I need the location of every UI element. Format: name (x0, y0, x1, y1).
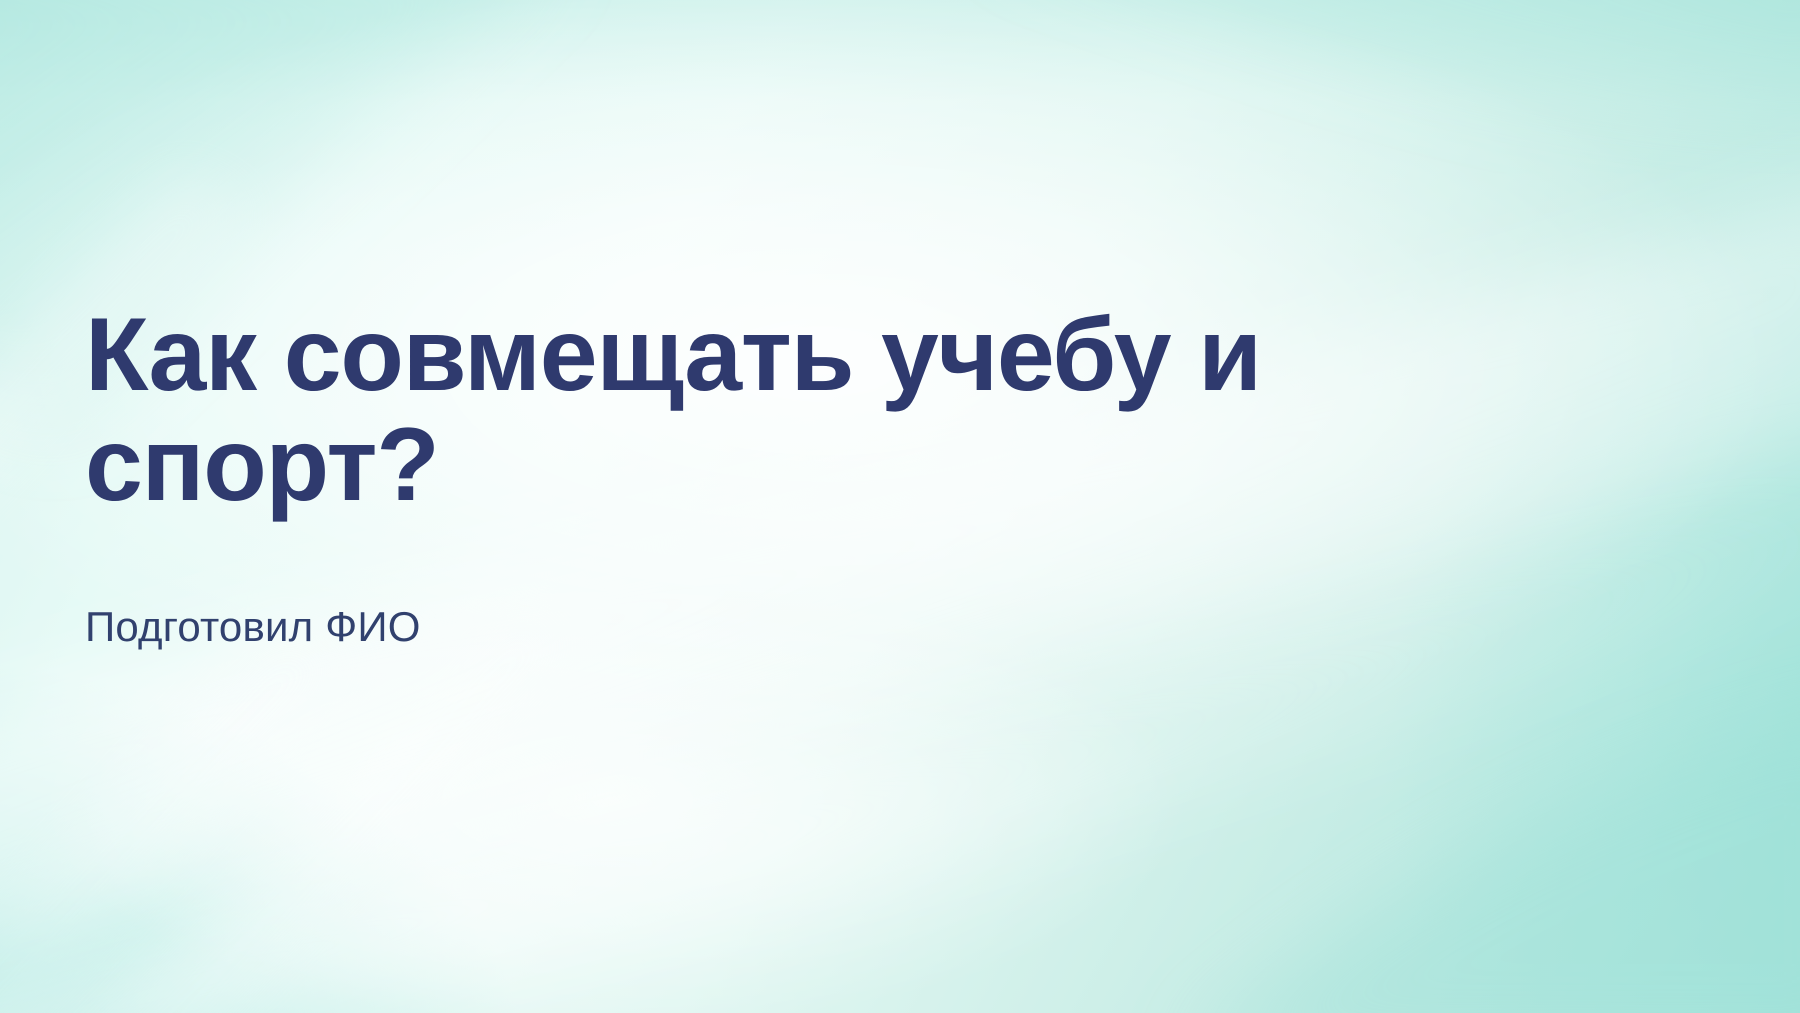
page-title: Как совмещать учебу и спорт? (85, 300, 1565, 520)
title-slide: Как совмещать учебу и спорт? Подготовил … (0, 0, 1800, 1013)
wave-upper-right (980, 0, 1800, 123)
title-block: Как совмещать учебу и спорт? Подготовил … (85, 300, 1625, 653)
author-subtitle: Подготовил ФИО (85, 520, 1625, 652)
